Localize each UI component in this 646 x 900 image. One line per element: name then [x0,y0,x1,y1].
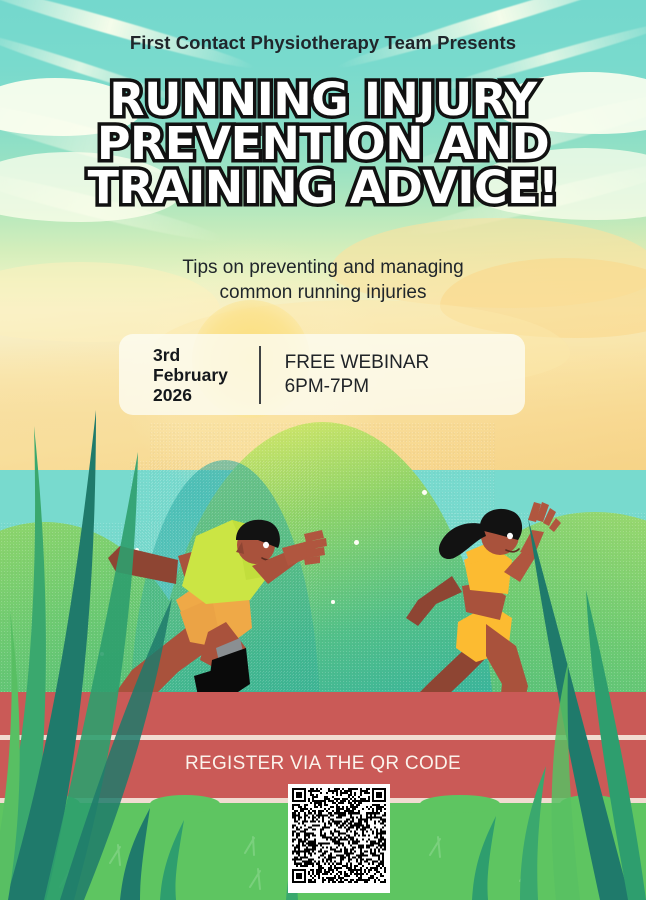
subtitle-line-2: common running injuries [0,280,646,305]
qr-code[interactable] [288,784,390,893]
register-instruction: REGISTER VIA THE QR CODE [0,753,646,775]
event-info-card: 3rd February 2026 FREE WEBINAR 6PM-7PM [119,334,525,415]
card-divider [259,346,261,404]
event-details: FREE WEBINAR 6PM-7PM [261,351,430,399]
date-month: February [153,365,259,385]
page-title: RUNNING INJURY PREVENTION AND TRAINING A… [0,78,646,210]
event-time: 6PM-7PM [285,375,430,399]
subtitle: Tips on preventing and managing common r… [0,255,646,305]
poster-canvas: First Contact Physiotherapy Team Present… [0,0,646,900]
date-year: 2026 [153,385,259,405]
date-day: 3rd [153,345,259,365]
event-date: 3rd February 2026 [119,345,259,405]
title-line-1: RUNNING INJURY [0,78,646,122]
event-type: FREE WEBINAR [285,351,430,375]
title-line-2: PREVENTION AND [0,122,646,166]
presenter-line: First Contact Physiotherapy Team Present… [0,32,646,54]
subtitle-line-1: Tips on preventing and managing [0,255,646,280]
title-line-3: TRAINING ADVICE! [0,166,646,210]
